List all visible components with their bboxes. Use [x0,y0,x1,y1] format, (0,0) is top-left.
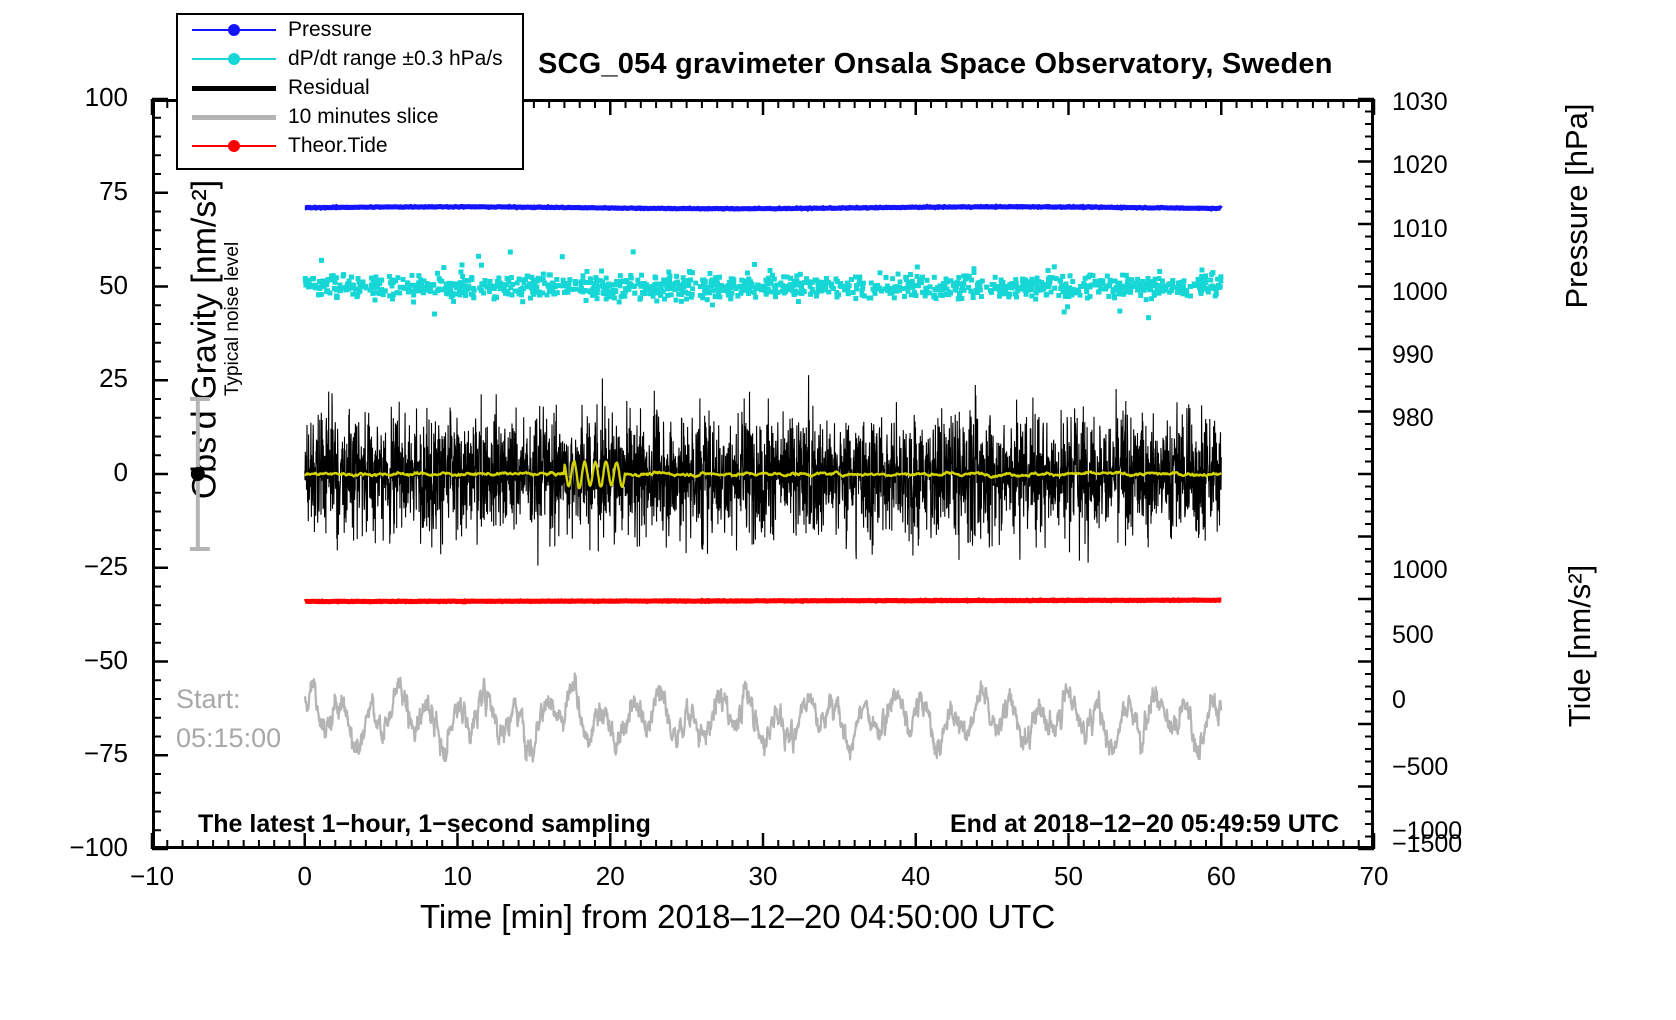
y-tick-left-0: 100 [32,82,128,113]
legend-swatch-icon [186,107,282,127]
chart-page: SCG_054 gravimeter Onsala Space Observat… [0,0,1676,1020]
sampling-note: The latest 1−hour, 1−second sampling [198,810,651,839]
y-tick-left-2: 50 [32,270,128,301]
legend-label: Residual [282,76,370,100]
start-time: 05:15:00 [176,723,281,754]
legend-item-2[interactable]: Residual [186,73,522,102]
y-tick-left-3: 25 [32,363,128,394]
x-axis-label: Time [min] from 2018–12–20 04:50:00 UTC [420,898,1055,936]
y-axis-label-tide: Tide [nm/s²] [1562,521,1598,771]
end-time-note: End at 2018−12−20 05:49:59 UTC [950,810,1339,839]
legend-label: Theor.Tide [282,134,388,158]
legend-item-0[interactable]: Pressure [186,15,522,44]
legend-swatch-icon [186,20,282,40]
legend-label: 10 minutes slice [282,105,439,129]
y-tick-left-5: −25 [32,551,128,582]
y-tick-left-8: −100 [32,832,128,863]
legend-swatch-icon [186,49,282,69]
legend-label: dP/dt range ±0.3 hPa/s [282,47,503,71]
y-axis-label-pressure: Pressure [hPa] [1559,61,1595,351]
y-tick-left-7: −75 [32,738,128,769]
typical-noise-marker [190,390,240,570]
legend-item-3[interactable]: 10 minutes slice [186,102,522,131]
typical-noise-label: Typical noise level [222,200,244,396]
legend-item-4[interactable]: Theor.Tide [186,131,522,160]
legend: PressuredP/dt range ±0.3 hPa/sResidual10… [176,13,524,170]
y-tick-left-4: 0 [32,457,128,488]
legend-swatch-icon [186,78,282,98]
y-tick-left-6: −50 [32,645,128,676]
y-tick-left-1: 75 [32,176,128,207]
axis-tick-marks [120,70,1540,900]
legend-label: Pressure [282,18,372,42]
legend-item-1[interactable]: dP/dt range ±0.3 hPa/s [186,44,522,73]
start-label: Start: [176,684,241,715]
legend-swatch-icon [186,136,282,156]
